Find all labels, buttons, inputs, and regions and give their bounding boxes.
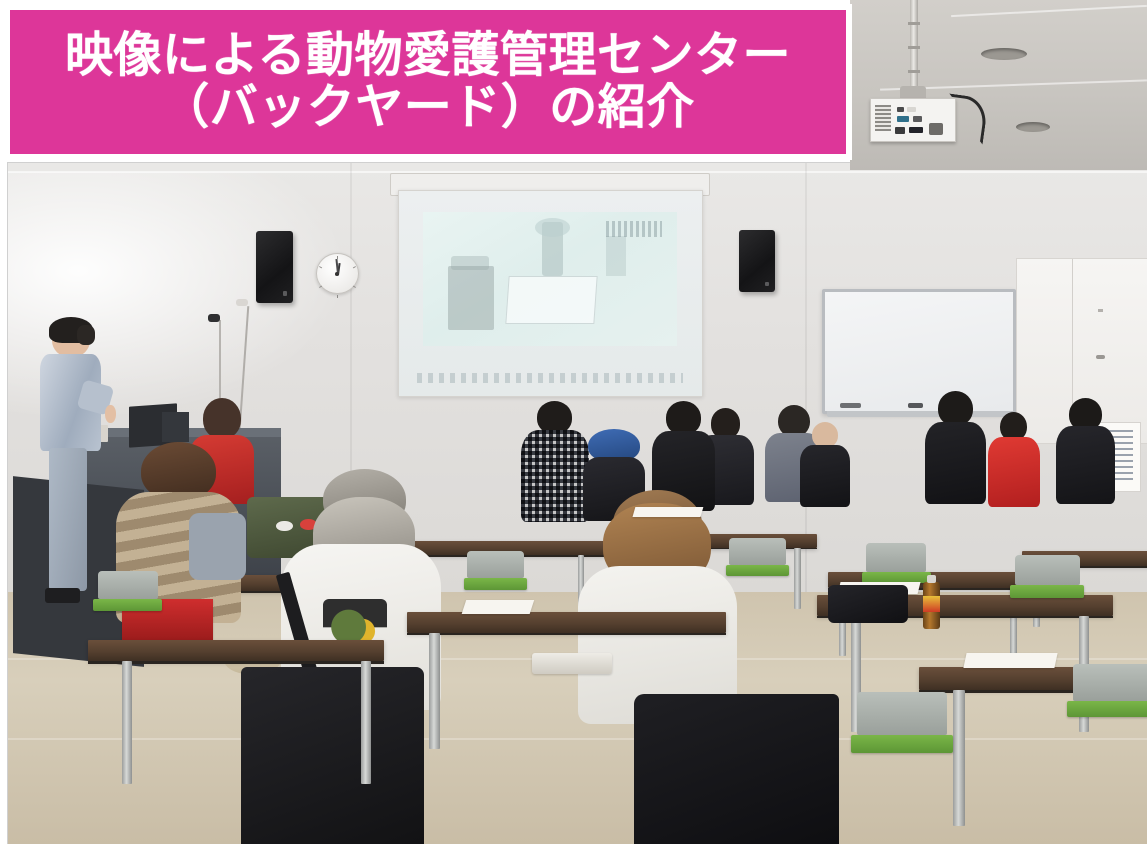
title-banner: 映像による動物愛護管理センター （バックヤード）の紹介	[10, 10, 846, 154]
title-line-2: （バックヤード）の紹介	[65, 82, 791, 134]
seminar-photo-ceiling-strip	[850, 0, 1147, 170]
mic-stand-head	[236, 299, 248, 306]
whiteboard	[822, 289, 1016, 414]
presenter-hand	[105, 405, 115, 422]
projected-video	[423, 212, 677, 347]
slide-title: 映像による動物愛護管理センター （バックヤード）の紹介	[65, 30, 791, 134]
attendee-far-left-black	[800, 422, 850, 504]
handout-paper-4	[633, 507, 704, 517]
seminar-photo	[8, 163, 1147, 844]
speaker-left-icon	[256, 231, 292, 303]
speaker-right-icon	[739, 230, 774, 293]
door-handle-icon	[1096, 355, 1105, 359]
projected-logo-text	[606, 221, 662, 237]
projection-screen	[398, 190, 703, 396]
black-coat-on-chair-2	[634, 694, 839, 844]
attendee-hood-black	[1056, 398, 1115, 500]
presenter-trousers	[49, 448, 87, 591]
projected-cabinet-top	[451, 256, 489, 269]
whiteboard-eraser	[908, 403, 923, 407]
desk-front-left	[88, 640, 384, 662]
chair-left-1	[93, 599, 161, 630]
chair-right-1	[1010, 585, 1084, 619]
attendee-tan-vest-arm	[189, 513, 247, 580]
classroom-scene	[8, 163, 1147, 844]
black-jacket-on-chair	[241, 667, 423, 844]
projected-table	[505, 276, 597, 324]
chair-right-3	[1067, 701, 1147, 742]
attendee-mask-black	[925, 391, 987, 500]
projector-pipe	[910, 0, 918, 96]
desk-front-center	[407, 612, 726, 632]
projected-subtitle	[417, 373, 684, 383]
wall-joint-right	[805, 163, 807, 592]
chair-far-right-4	[851, 735, 954, 783]
presenter-shoe	[45, 588, 81, 602]
presenter-hair-side	[77, 325, 95, 345]
title-line-1: 映像による動物愛護管理センター	[65, 30, 791, 82]
slide-canvas: 映像による動物愛護管理センター （バックヤード）の紹介	[0, 0, 1147, 844]
handout-paper-1	[461, 600, 534, 614]
podium-device	[162, 412, 189, 443]
ceiling-vent-1	[981, 48, 1027, 60]
projected-cabinet	[448, 266, 494, 331]
wall-clock-icon	[316, 253, 359, 294]
handout-paper-3	[963, 653, 1057, 668]
towel-on-desk	[532, 653, 612, 673]
presenter	[34, 320, 108, 606]
whiteboard-marker	[840, 403, 861, 408]
projected-equipment-head	[535, 218, 571, 237]
projected-panel	[606, 236, 626, 276]
black-backpack	[828, 585, 908, 622]
door-lock-icon	[1098, 309, 1103, 312]
attendee-white-sweater	[578, 490, 737, 715]
water-bottle	[923, 582, 940, 630]
microphone-icon	[208, 314, 220, 322]
attendee-red-sweater	[988, 412, 1040, 504]
chair-center-1	[726, 565, 790, 595]
